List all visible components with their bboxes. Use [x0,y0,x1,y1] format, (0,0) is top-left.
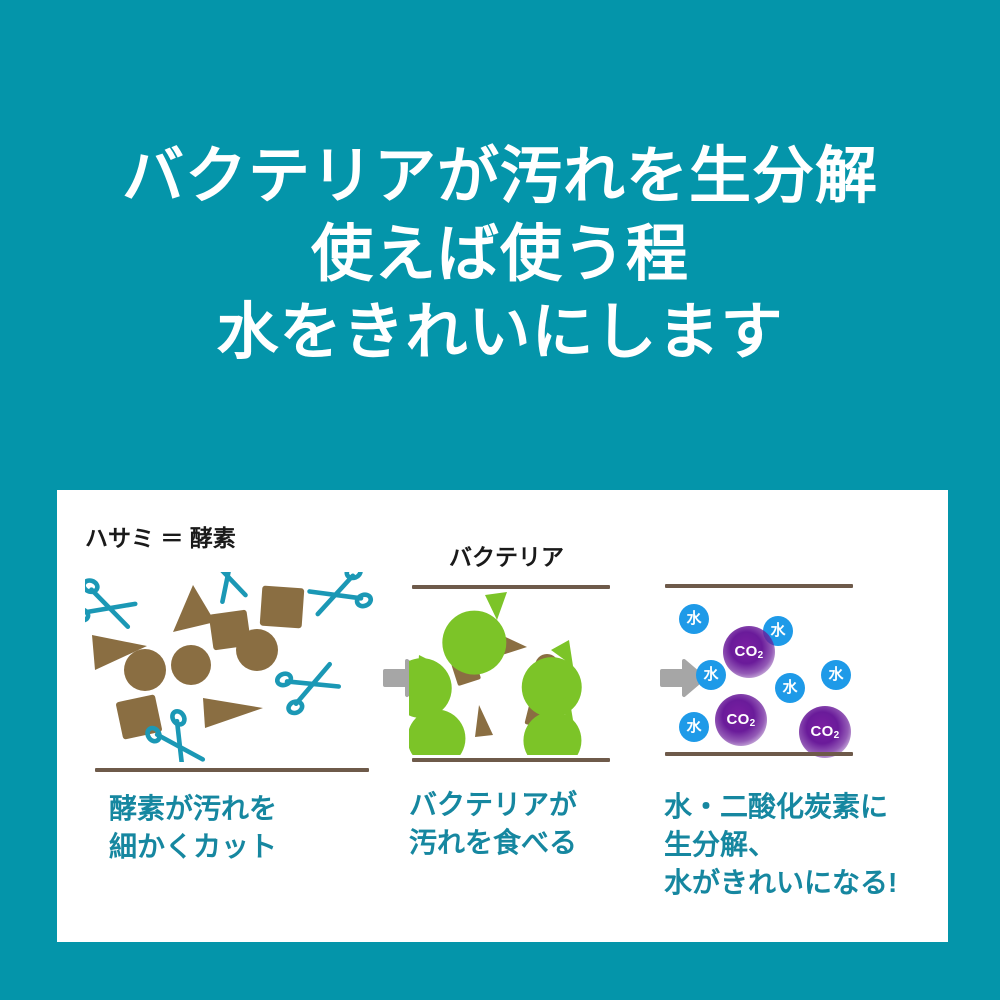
panel-2-caption: バクテリアが 汚れを食べる [409,786,577,862]
scissors-scene [85,572,375,762]
co2-molecule-icon: CO2 [799,706,851,758]
co2-subscript: 2 [758,650,764,661]
bacteria-group [409,592,582,755]
headline-line-1: バクテリアが汚れを生分解 [0,138,1000,216]
co2-label: CO [811,723,834,740]
scissors-illustration [85,572,375,762]
panel-1-divider [95,768,369,772]
bacteria-scene [409,590,614,755]
headline-line-3: 水をきれいにします [0,294,1000,372]
water-molecule-icon: 水 [679,712,709,742]
soil-fragments-group [92,585,304,740]
panel-2-caption-line-1: バクテリアが [409,786,577,824]
co2-label: CO [727,711,750,728]
panel-2-header: バクテリア [449,543,564,571]
panel-3-caption-line-3: 水がきれいになる! [664,864,897,902]
panel-3-divider-bottom [665,752,853,756]
panel-1-header: ハサミ ＝ 酵素 [85,524,236,552]
diagram-card: ハサミ ＝ 酵素 [57,490,948,942]
water-molecule-icon: 水 [821,660,851,690]
panel-1-caption: 酵素が汚れを 細かくカット [109,790,277,866]
panel-2-divider-top [412,585,610,589]
diagram-panel-bacteria: バクテリア [387,490,652,942]
poster-root: バクテリアが汚れを生分解 使えば使う程 水をきれいにします ハサミ ＝ 酵素 [0,0,1000,1000]
panel-3-caption: 水・二酸化炭素に 生分解、 水がきれいになる! [664,788,897,902]
co2-label: CO [735,643,758,660]
panel-3-caption-line-2: 生分解、 [664,826,897,864]
diagram-panel-enzyme: ハサミ ＝ 酵素 [57,490,387,942]
panel-1-caption-line-2: 細かくカット [109,828,277,866]
bacteria-illustration [409,590,614,755]
panel-3-caption-line-1: 水・二酸化炭素に [664,788,897,826]
co2-subscript: 2 [750,718,756,729]
headline-line-2: 使えば使う程 [0,216,1000,294]
diagram-panel-molecules: 水 水 水 水 水 水 CO2 CO2 CO2 水・二酸化炭素に 生分解 [652,490,948,942]
water-molecule-icon: 水 [679,604,709,634]
water-molecule-icon: 水 [775,673,805,703]
co2-molecule-icon: CO2 [715,694,767,746]
molecule-scene: 水 水 水 水 水 水 CO2 CO2 CO2 [665,588,855,750]
panel-1-caption-line-1: 酵素が汚れを [109,790,277,828]
co2-subscript: 2 [834,730,840,741]
co2-molecule-icon: CO2 [723,626,775,678]
panel-2-divider-bottom [412,758,610,762]
page-title: バクテリアが汚れを生分解 使えば使う程 水をきれいにします [0,138,1000,372]
panel-2-caption-line-2: 汚れを食べる [409,824,577,862]
water-molecule-icon: 水 [696,660,726,690]
